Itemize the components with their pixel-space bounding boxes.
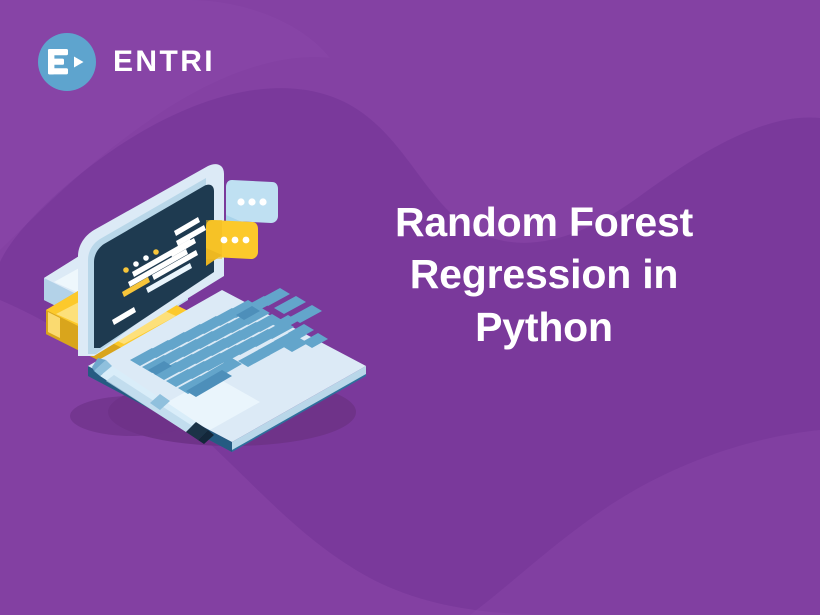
brand-name-text: ENTRI <box>113 47 215 77</box>
brand-logo[interactable]: ENTRI <box>38 33 215 91</box>
blog-banner: ENTRI Random Forest Regression in Python <box>0 0 820 615</box>
entri-logo-icon <box>38 33 96 91</box>
chat-bubble-yellow <box>206 220 258 266</box>
laptop-books-pen-illustration <box>36 160 376 460</box>
page-title: Random Forest Regression in Python <box>372 196 716 353</box>
entri-e-play-glyph <box>47 49 87 75</box>
hero-illustration <box>36 160 376 460</box>
wave-shape-lower-right <box>470 430 820 615</box>
